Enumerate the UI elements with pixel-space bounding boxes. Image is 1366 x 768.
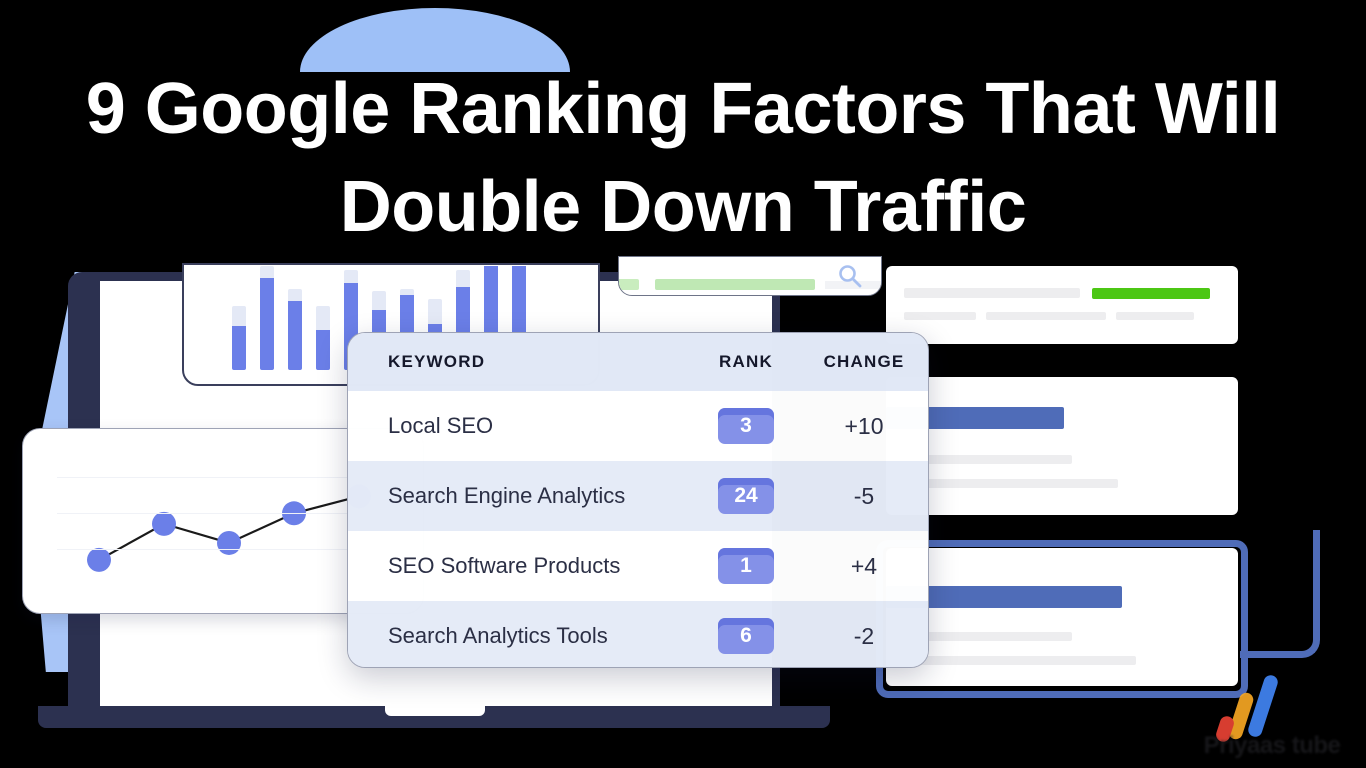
serp-line	[1116, 312, 1194, 320]
gridline	[57, 513, 391, 514]
cell-change: +4	[800, 531, 928, 601]
serp-result-card	[886, 377, 1238, 515]
cell-rank: 24	[692, 461, 800, 531]
cell-keyword: SEO Software Products	[348, 531, 692, 601]
table-header-row: KEYWORD RANK CHANGE	[348, 333, 928, 391]
table-row[interactable]: Search Engine Analytics24-5	[348, 461, 928, 531]
search-bar-card[interactable]	[618, 256, 882, 296]
gridline	[57, 477, 391, 478]
cell-change: +10	[800, 391, 928, 461]
search-green-pill	[655, 279, 815, 290]
serp-result-card	[886, 266, 1238, 344]
cell-rank: 6	[692, 601, 800, 668]
cell-keyword: Search Analytics Tools	[348, 601, 692, 668]
cell-rank: 1	[692, 531, 800, 601]
search-icon[interactable]	[837, 263, 863, 289]
table-row[interactable]: Search Analytics Tools6-2	[348, 601, 928, 668]
brand-watermark-text: Priyaas tube	[1192, 732, 1352, 760]
keyword-table: KEYWORD RANK CHANGE Local SEO3+10Search …	[348, 333, 928, 668]
serp-line	[904, 288, 1080, 298]
search-green-pill-small	[618, 279, 639, 290]
cell-change: -5	[800, 461, 928, 531]
cell-keyword: Local SEO	[348, 391, 692, 461]
line-chart-point	[87, 548, 111, 572]
bar-chart-bar	[260, 266, 274, 370]
table-row[interactable]: SEO Software Products1+4	[348, 531, 928, 601]
column-header-change: CHANGE	[800, 333, 928, 391]
blue-connector-line	[1240, 530, 1320, 658]
cell-change: -2	[800, 601, 928, 668]
line-chart-point	[152, 512, 176, 536]
keyword-ranking-panel: KEYWORD RANK CHANGE Local SEO3+10Search …	[347, 332, 929, 668]
bar-chart-bar	[232, 306, 246, 370]
cell-rank: 3	[692, 391, 800, 461]
rank-badge: 6	[718, 618, 774, 654]
column-header-rank: RANK	[692, 333, 800, 391]
rank-badge: 3	[718, 408, 774, 444]
line-chart-point	[217, 531, 241, 555]
rank-badge: 1	[718, 548, 774, 584]
rank-badge: 24	[718, 478, 774, 514]
serp-green-bar	[1092, 288, 1210, 299]
column-header-keyword: KEYWORD	[348, 333, 692, 391]
laptop-notch	[385, 706, 485, 716]
keyword-table-body: Local SEO3+10Search Engine Analytics24-5…	[348, 391, 928, 668]
serp-line	[986, 312, 1106, 320]
bar-chart-bar	[288, 289, 302, 370]
gridline	[57, 549, 391, 550]
bar-chart-bar	[316, 306, 330, 370]
serp-line	[904, 312, 976, 320]
table-row[interactable]: Local SEO3+10	[348, 391, 928, 461]
cell-keyword: Search Engine Analytics	[348, 461, 692, 531]
keyword-table-head: KEYWORD RANK CHANGE	[348, 333, 928, 391]
